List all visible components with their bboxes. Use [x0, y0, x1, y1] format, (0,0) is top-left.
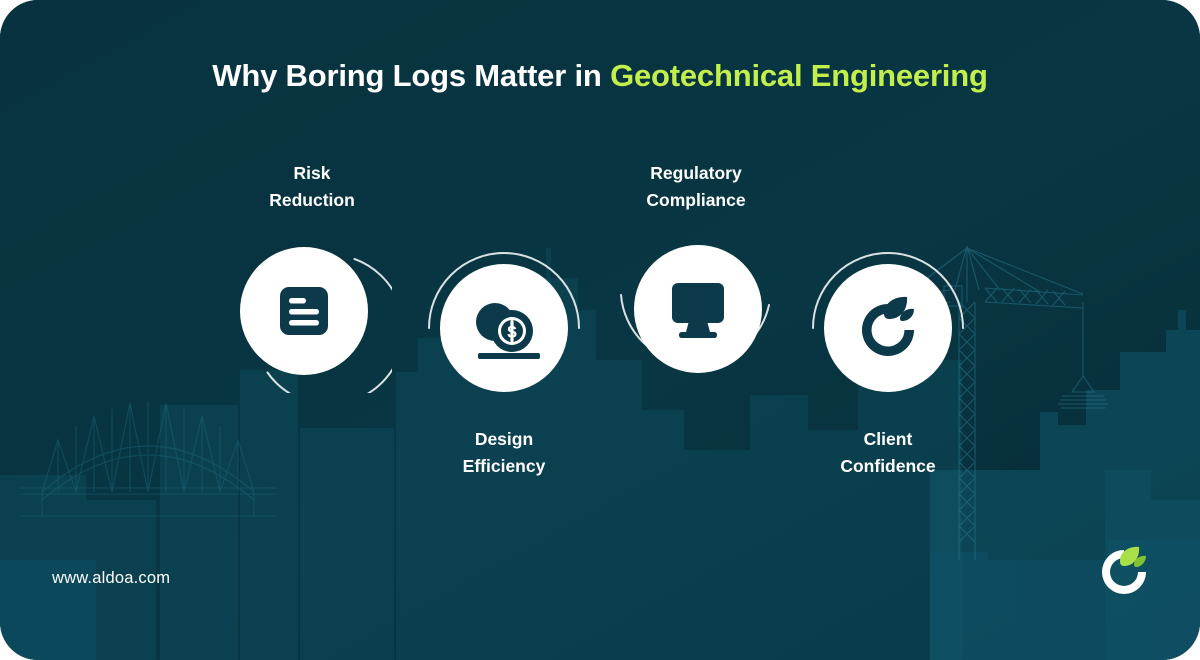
pillar-regulatory-compliance[interactable]: Regulatory Compliance	[600, 160, 792, 510]
pillar-risk-reduction[interactable]: Risk Reduction	[216, 160, 408, 510]
pillar-label-risk-reduction: Risk Reduction	[269, 160, 355, 213]
page-title-accent: Geotechnical Engineering	[610, 58, 988, 93]
pillar-label-client-confidence: Client Confidence	[840, 426, 935, 479]
pillar-client-confidence[interactable]: Client Confidence	[792, 160, 984, 510]
badge-circle	[824, 264, 952, 392]
infographic-card: Why Boring Logs Matter in Geotechnical E…	[0, 0, 1200, 660]
pillar-row: Risk Reduction	[0, 160, 1200, 510]
pillar-badge-design-efficiency[interactable]: $	[424, 246, 584, 406]
pillar-badge-client-confidence[interactable]	[808, 246, 968, 406]
pillar-badge-regulatory-compliance[interactable]	[616, 233, 776, 393]
pillar-design-efficiency[interactable]: $ Design Efficiency	[408, 160, 600, 510]
pillar-label-design-efficiency: Design Efficiency	[463, 426, 546, 479]
page-title: Why Boring Logs Matter in Geotechnical E…	[0, 58, 1200, 94]
pillar-badge-risk-reduction[interactable]	[232, 233, 392, 393]
page-title-lead: Why Boring Logs Matter in	[212, 58, 610, 93]
document-lines-icon	[280, 287, 328, 335]
pillar-label-regulatory-compliance: Regulatory Compliance	[646, 160, 745, 213]
aldoa-leaf-ring-logo[interactable]	[1092, 540, 1156, 604]
site-url[interactable]: www.aldoa.com	[52, 569, 170, 588]
